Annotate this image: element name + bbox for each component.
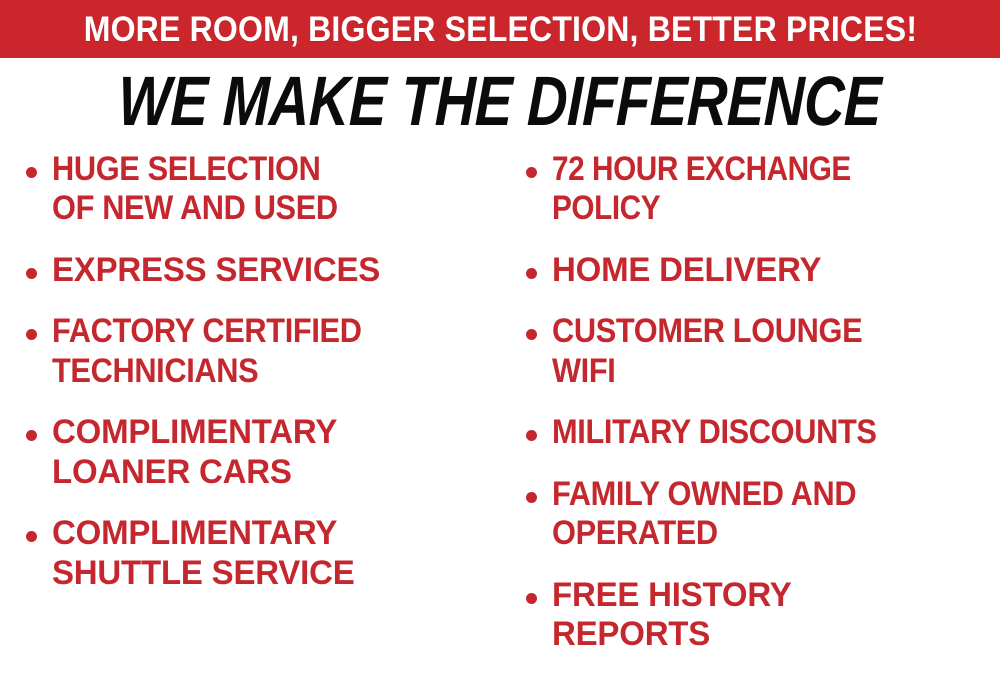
bullet-dot-icon — [26, 268, 37, 279]
list-item-label: 72 HOUR EXCHANGE POLICY — [552, 150, 944, 229]
list-item: COMPLIMENTARY SHUTTLE SERVICE — [14, 514, 500, 593]
list-item: COMPLIMENTARY LOANER CARS — [14, 413, 500, 492]
bullet-dot-icon — [526, 167, 537, 178]
bullet-dot-icon — [526, 593, 537, 604]
list-item-label: EXPRESS SERVICES — [52, 251, 487, 290]
banner-headline-text: MORE ROOM, BIGGER SELECTION, BETTER PRIC… — [83, 12, 916, 47]
benefits-column-left: HUGE SELECTION OF NEW AND USED EXPRESS S… — [14, 150, 500, 615]
list-item: HOME DELIVERY — [514, 251, 1000, 290]
list-item: MILITARY DISCOUNTS — [514, 413, 1000, 452]
list-item-label: CUSTOMER LOUNGE WIFI — [552, 312, 957, 391]
list-item: FAMILY OWNED AND OPERATED — [514, 475, 1000, 554]
list-item: FREE HISTORY REPORTS — [514, 576, 1000, 655]
bullet-dot-icon — [526, 268, 537, 279]
list-item-label: FACTORY CERTIFIED TECHNICIANS — [52, 312, 457, 391]
list-item-label: HUGE SELECTION OF NEW AND USED — [52, 150, 457, 229]
list-item: FACTORY CERTIFIED TECHNICIANS — [14, 312, 500, 391]
page-title: WE MAKE THE DIFFERENCE — [118, 66, 883, 136]
list-item-label: HOME DELIVERY — [552, 251, 987, 290]
list-item: 72 HOUR EXCHANGE POLICY — [514, 150, 1000, 229]
list-item-label: FREE HISTORY REPORTS — [552, 576, 987, 655]
list-item-label: COMPLIMENTARY SHUTTLE SERVICE — [52, 514, 487, 593]
bullet-dot-icon — [26, 430, 37, 441]
list-item: CUSTOMER LOUNGE WIFI — [514, 312, 1000, 391]
bullet-dot-icon — [26, 167, 37, 178]
list-item-label: COMPLIMENTARY LOANER CARS — [52, 413, 487, 492]
list-item-label: FAMILY OWNED AND OPERATED — [552, 475, 957, 554]
list-item: HUGE SELECTION OF NEW AND USED — [14, 150, 500, 229]
benefits-column-right: 72 HOUR EXCHANGE POLICY HOME DELIVERY CU… — [514, 150, 1000, 676]
headline-container: WE MAKE THE DIFFERENCE — [0, 62, 1000, 140]
bullet-dot-icon — [526, 492, 537, 503]
bullet-dot-icon — [26, 329, 37, 340]
promo-poster: MORE ROOM, BIGGER SELECTION, BETTER PRIC… — [0, 0, 1000, 694]
bullet-dot-icon — [526, 329, 537, 340]
bullet-dot-icon — [26, 531, 37, 542]
list-item-label: MILITARY DISCOUNTS — [552, 413, 957, 452]
list-item: EXPRESS SERVICES — [14, 251, 500, 290]
benefits-columns: HUGE SELECTION OF NEW AND USED EXPRESS S… — [0, 150, 1000, 694]
top-banner: MORE ROOM, BIGGER SELECTION, BETTER PRIC… — [0, 0, 1000, 58]
bullet-dot-icon — [526, 430, 537, 441]
